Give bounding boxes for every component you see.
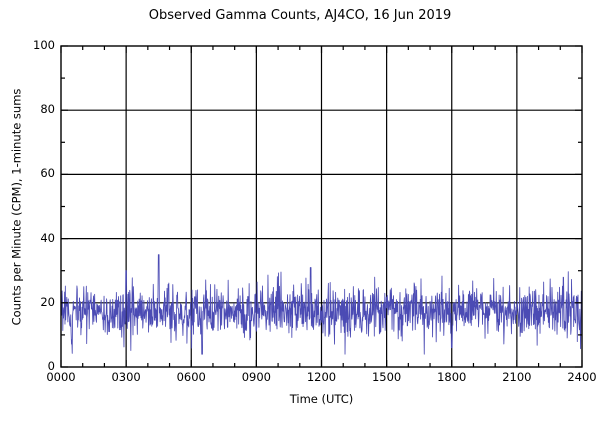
x-tick-label: 1500	[357, 372, 417, 383]
x-tick-label: 0600	[161, 372, 221, 383]
x-tick-label: 0900	[226, 372, 286, 383]
y-tick-label: 80	[15, 104, 55, 115]
y-tick-label: 60	[15, 168, 55, 179]
x-tick-label: 0000	[31, 372, 91, 383]
y-tick-label: 20	[15, 297, 55, 308]
y-tick-label: 40	[15, 233, 55, 244]
x-tick-label: 1800	[422, 372, 482, 383]
x-tick-label: 0300	[96, 372, 156, 383]
x-tick-label: 2400	[552, 372, 600, 383]
x-tick-label: 1200	[292, 372, 352, 383]
x-tick-label: 2100	[487, 372, 547, 383]
plot-area	[0, 0, 600, 428]
gamma-counts-chart: Observed Gamma Counts, AJ4CO, 16 Jun 201…	[0, 0, 600, 428]
y-tick-label: 100	[15, 40, 55, 51]
